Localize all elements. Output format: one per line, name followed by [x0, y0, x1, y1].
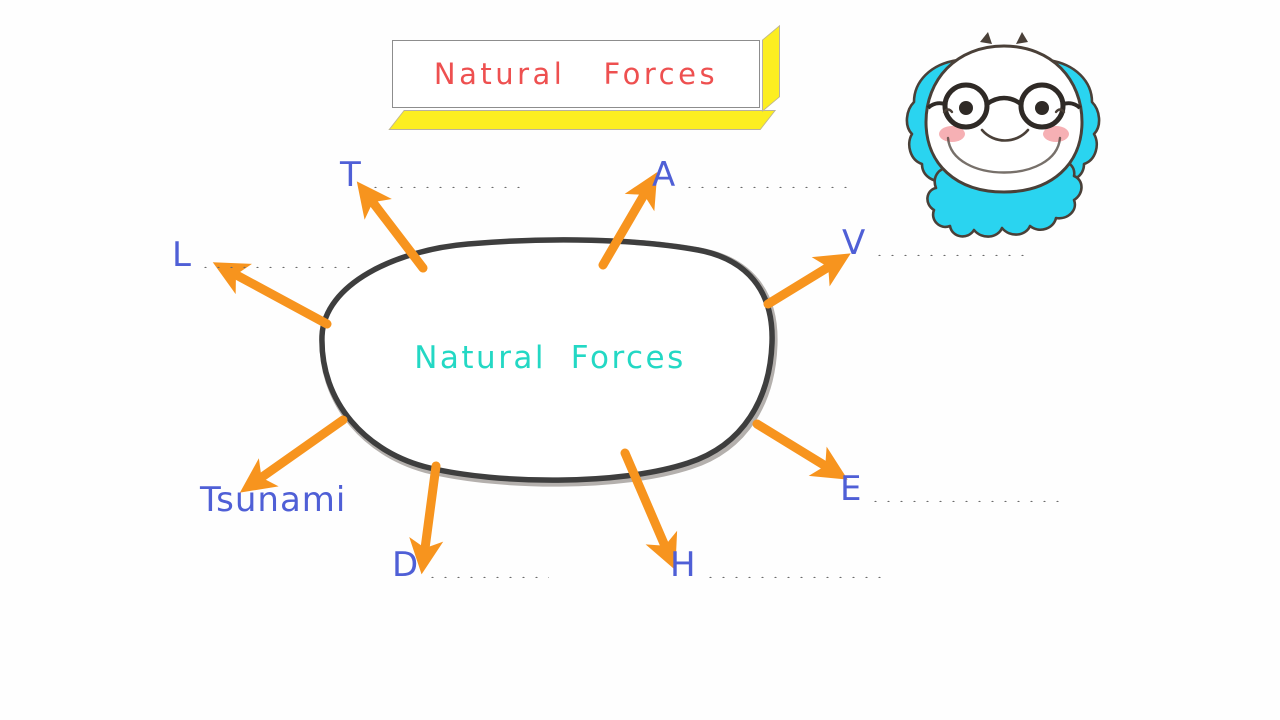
eye-left — [959, 101, 973, 115]
eye-right — [1035, 101, 1049, 115]
mascot-axolotl[interactable] — [0, 0, 1280, 720]
worksheet-canvas: Natural Forces Natural Forces — [0, 0, 1280, 720]
ear-nub-left-icon — [980, 32, 992, 44]
ear-nub-right-icon — [1016, 32, 1028, 44]
